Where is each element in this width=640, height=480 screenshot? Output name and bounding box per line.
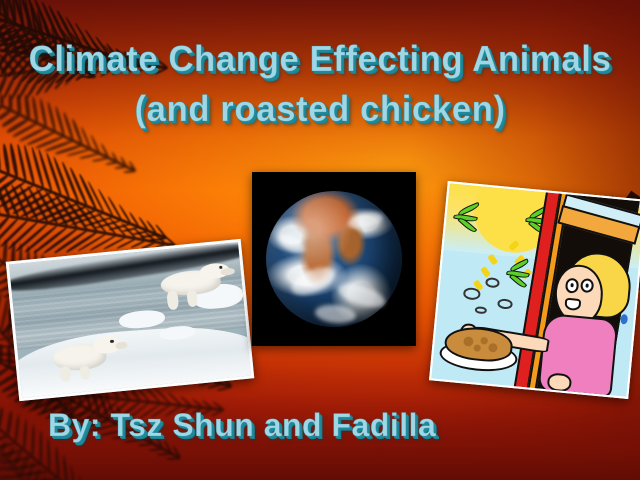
steam-puff-icon [475, 306, 487, 315]
steam-puff-icon [497, 298, 514, 309]
image-earth-blue-marble[interactable] [252, 172, 416, 346]
earth-cloud-swirl [275, 231, 308, 258]
cartoon-scene [431, 183, 640, 397]
image-roasted-chicken-cartoon[interactable] [429, 181, 640, 399]
earth-cloud-swirl [288, 261, 339, 300]
cartoon-pupil [570, 284, 573, 288]
polar-bear-scene [9, 242, 251, 398]
slide-title-line-2: (and roasted chicken) [10, 88, 631, 130]
earth-cloud-swirl [314, 303, 356, 325]
bear-eye [219, 266, 223, 269]
cartoon-woman [533, 247, 636, 396]
bear-eye [110, 339, 114, 342]
sun-ray [487, 253, 497, 264]
cartoon-mouth [565, 298, 581, 312]
presentation-slide: Climate Change Effecting Animals (and ro… [0, 0, 640, 480]
bear-leg [59, 366, 71, 382]
polar-bear-cub [48, 328, 131, 384]
earth-cloud-swirl [346, 209, 384, 231]
bear-leg [186, 290, 197, 307]
bear-snout [115, 341, 127, 350]
steam-puff-icon [485, 277, 500, 288]
image-polar-bears-on-ice[interactable] [6, 239, 255, 401]
earth-globe [266, 191, 402, 327]
polar-bear-adult [152, 259, 239, 312]
sun-ray [480, 267, 490, 278]
slide-byline: By: Tsz Shun and Fadilla [0, 406, 640, 444]
slide-title-line-1: Climate Change Effecting Animals [10, 38, 631, 80]
cartoon-pupil [585, 284, 588, 288]
cartoon-palm-icon [451, 201, 493, 240]
bear-snout [221, 268, 235, 276]
bear-leg [167, 291, 179, 310]
cartoon-eye [580, 278, 595, 294]
cartoon-earring [620, 314, 628, 325]
cartoon-eye [565, 278, 580, 294]
